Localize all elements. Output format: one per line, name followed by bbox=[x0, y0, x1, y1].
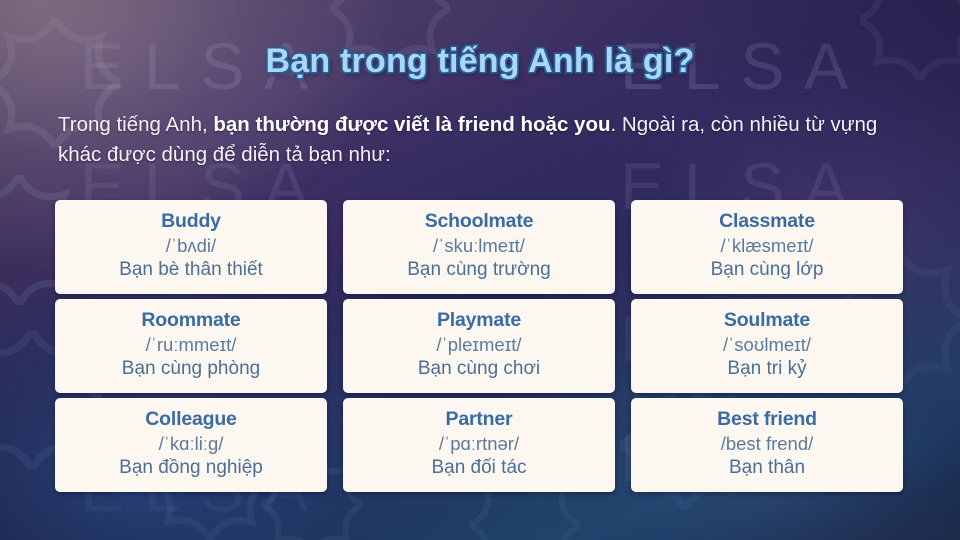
vocabulary-card-pronunciation: /best frend/ bbox=[721, 432, 814, 455]
vocabulary-card-word: Buddy bbox=[161, 210, 221, 234]
vocabulary-card-pronunciation: /ˈsoʊlmeɪt/ bbox=[723, 333, 811, 356]
vocabulary-card-pronunciation: /ˈbʌdi/ bbox=[166, 234, 216, 257]
intro-text-bold: bạn thường được viết là friend hoặc you bbox=[213, 113, 610, 136]
vocabulary-card: Soulmate/ˈsoʊlmeɪt/Bạn tri kỷ bbox=[631, 299, 903, 393]
vocabulary-card-pronunciation: /ˈpɑːrtnər/ bbox=[439, 432, 519, 455]
vocabulary-card: Roommate/ˈruːmmeɪt/Bạn cùng phòng bbox=[55, 299, 327, 393]
vocabulary-card: Colleague/ˈkɑːliːg/Bạn đồng nghiệp bbox=[55, 398, 327, 492]
vocabulary-card: Best friend/best frend/Bạn thân bbox=[631, 398, 903, 492]
vocabulary-card-word: Partner bbox=[446, 408, 513, 432]
vocabulary-card-word: Colleague bbox=[145, 408, 236, 432]
vocabulary-card-translation: Bạn cùng lớp bbox=[711, 258, 824, 282]
vocabulary-card: Classmate/ˈklæsmeɪt/Bạn cùng lớp bbox=[631, 200, 903, 294]
vocabulary-card-word: Classmate bbox=[719, 210, 815, 234]
vocabulary-card-translation: Bạn thân bbox=[729, 456, 805, 480]
vocabulary-card: Buddy/ˈbʌdi/Bạn bè thân thiết bbox=[55, 200, 327, 294]
vocabulary-card-pronunciation: /ˈklæsmeɪt/ bbox=[721, 234, 814, 257]
vocabulary-card-translation: Bạn bè thân thiết bbox=[119, 258, 263, 282]
vocabulary-card-word: Soulmate bbox=[724, 309, 810, 333]
vocabulary-card-translation: Bạn cùng trường bbox=[407, 258, 550, 282]
vocabulary-card-translation: Bạn đồng nghiệp bbox=[119, 456, 263, 480]
vocabulary-card-translation: Bạn tri kỷ bbox=[727, 357, 806, 381]
vocabulary-card-word: Schoolmate bbox=[425, 210, 534, 234]
vocabulary-card-word: Playmate bbox=[437, 309, 521, 333]
vocabulary-card-pronunciation: /ˈpleɪmeɪt/ bbox=[436, 333, 521, 356]
vocabulary-card-translation: Bạn cùng chơi bbox=[418, 357, 540, 381]
vocabulary-card-translation: Bạn đối tác bbox=[431, 456, 526, 480]
vocabulary-card-pronunciation: /ˈskuːlmeɪt/ bbox=[433, 234, 525, 257]
intro-text-part1: Trong tiếng Anh, bbox=[58, 113, 213, 136]
vocabulary-card-translation: Bạn cùng phòng bbox=[122, 357, 260, 381]
vocabulary-card-pronunciation: /ˈkɑːliːg/ bbox=[159, 432, 224, 455]
vocabulary-card: Playmate/ˈpleɪmeɪt/Bạn cùng chơi bbox=[343, 299, 615, 393]
page-title: Bạn trong tiếng Anh là gì? bbox=[0, 42, 960, 81]
vocabulary-card: Schoolmate/ˈskuːlmeɪt/Bạn cùng trường bbox=[343, 200, 615, 294]
vocabulary-card-word: Roommate bbox=[141, 309, 240, 333]
vocabulary-card-word: Best friend bbox=[717, 408, 817, 432]
vocabulary-card: Partner/ˈpɑːrtnər/Bạn đối tác bbox=[343, 398, 615, 492]
vocabulary-card-pronunciation: /ˈruːmmeɪt/ bbox=[146, 333, 237, 356]
vocabulary-card-grid: Buddy/ˈbʌdi/Bạn bè thân thiếtSchoolmate/… bbox=[55, 200, 911, 492]
intro-paragraph: Trong tiếng Anh, bạn thường được viết là… bbox=[58, 110, 908, 170]
